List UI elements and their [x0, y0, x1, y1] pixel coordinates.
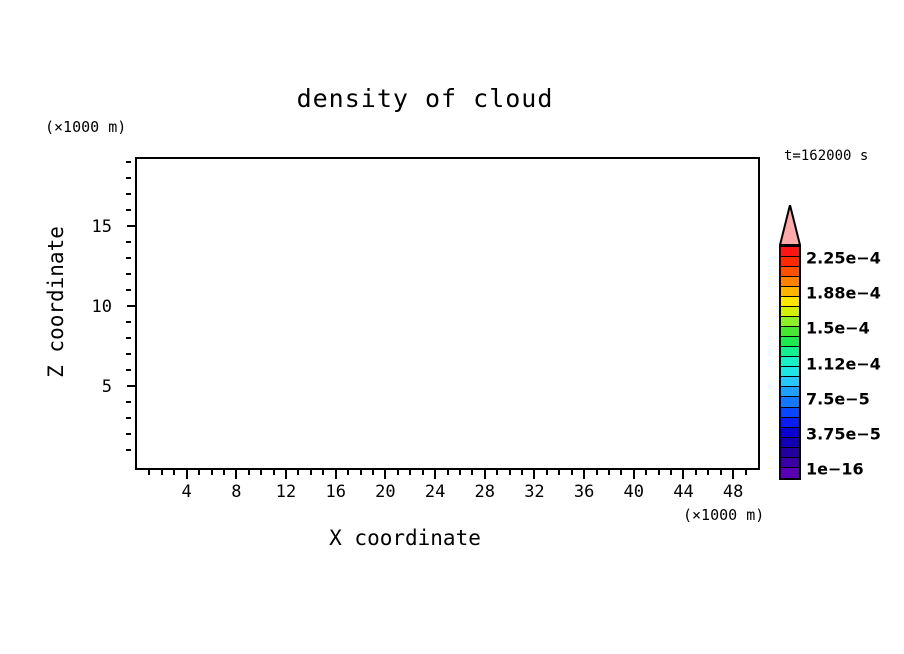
x-tick-minor — [608, 470, 610, 475]
colorbar-band — [781, 428, 799, 438]
colorbar-band — [781, 257, 799, 267]
colorbar-overflow-arrow-icon — [779, 205, 801, 246]
colorbar-band — [781, 367, 799, 377]
x-tick-label: 32 — [524, 482, 544, 502]
x-tick-major — [335, 470, 337, 479]
x-axis-title: X coordinate — [0, 526, 904, 550]
colorbar-band — [781, 307, 799, 317]
colorbar-band — [781, 357, 799, 367]
x-tick-minor — [360, 470, 362, 475]
x-tick-minor — [658, 470, 660, 475]
colorbar-band — [781, 317, 799, 327]
x-tick-minor — [297, 470, 299, 475]
y-tick-major — [127, 385, 136, 387]
x-tick-label: 4 — [182, 482, 192, 502]
x-tick-minor — [397, 470, 399, 475]
colorbar-label: 1.12e−4 — [806, 354, 881, 373]
x-tick-label: 44 — [673, 482, 693, 502]
x-tick-minor — [161, 470, 163, 475]
x-tick-label: 36 — [574, 482, 594, 502]
x-tick-major — [633, 470, 635, 479]
x-tick-minor — [347, 470, 349, 475]
x-tick-minor — [695, 470, 697, 475]
y-tick-minor — [126, 273, 131, 275]
colorbar-band — [781, 267, 799, 277]
x-axis-unit-label: (×1000 m) — [683, 506, 764, 524]
x-tick-major — [583, 470, 585, 479]
colorbar-label: 1.5e−4 — [806, 319, 870, 338]
y-tick-minor — [126, 449, 131, 451]
x-tick-minor — [273, 470, 275, 475]
x-tick-minor — [471, 470, 473, 475]
y-tick-minor — [126, 289, 131, 291]
y-tick-major — [127, 305, 136, 307]
x-tick-minor — [248, 470, 250, 475]
x-tick-label: 24 — [425, 482, 445, 502]
x-tick-major — [682, 470, 684, 479]
x-tick-minor — [211, 470, 213, 475]
x-tick-major — [533, 470, 535, 479]
x-tick-minor — [422, 470, 424, 475]
x-tick-minor — [546, 470, 548, 475]
y-tick-minor — [126, 337, 131, 339]
x-tick-minor — [645, 470, 647, 475]
x-tick-minor — [496, 470, 498, 475]
x-tick-label: 40 — [624, 482, 644, 502]
colorbar-band — [781, 327, 799, 337]
x-tick-label: 28 — [475, 482, 495, 502]
colorbar-band — [781, 438, 799, 448]
x-tick-minor — [596, 470, 598, 475]
x-tick-minor — [620, 470, 622, 475]
y-tick-minor — [126, 433, 131, 435]
y-axis-ticks — [126, 157, 136, 470]
x-tick-minor — [670, 470, 672, 475]
x-tick-minor — [372, 470, 374, 475]
x-tick-minor — [720, 470, 722, 475]
y-tick-minor — [126, 241, 131, 243]
colorbar-band — [781, 277, 799, 287]
colorbar-label: 7.5e−5 — [806, 389, 870, 408]
x-tick-minor — [173, 470, 175, 475]
colorbar-band — [781, 377, 799, 387]
y-tick-major — [127, 225, 136, 227]
x-axis-ticks — [135, 470, 760, 480]
x-tick-major — [384, 470, 386, 479]
chart-title: density of cloud — [0, 84, 904, 113]
x-tick-major — [732, 470, 734, 479]
x-tick-minor — [521, 470, 523, 475]
x-tick-minor — [223, 470, 225, 475]
y-tick-minor — [126, 161, 131, 163]
colorbar-band — [781, 347, 799, 357]
colorbar-label: 1.88e−4 — [806, 284, 881, 303]
colorbar-label: 3.75e−5 — [806, 424, 881, 443]
density-field-canvas — [137, 159, 758, 468]
x-tick-minor — [571, 470, 573, 475]
y-axis-tick-labels: 51015 — [0, 157, 126, 470]
y-tick-minor — [126, 369, 131, 371]
y-tick-minor — [126, 321, 131, 323]
colorbar-band — [781, 458, 799, 468]
x-tick-minor — [558, 470, 560, 475]
colorbar-label: 2.25e−4 — [806, 249, 881, 268]
time-annotation: t=162000 s — [784, 148, 868, 164]
x-tick-minor — [260, 470, 262, 475]
colorbar-band — [781, 247, 799, 257]
x-tick-minor — [509, 470, 511, 475]
y-tick-minor — [126, 209, 131, 211]
colorbar — [779, 245, 801, 480]
y-tick-minor — [126, 177, 131, 179]
y-tick-minor — [126, 417, 131, 419]
y-tick-minor — [126, 193, 131, 195]
y-tick-label: 15 — [92, 217, 112, 237]
x-tick-label: 20 — [375, 482, 395, 502]
x-tick-minor — [745, 470, 747, 475]
colorbar-band — [781, 468, 799, 478]
colorbar-band — [781, 418, 799, 428]
colorbar-band — [781, 448, 799, 458]
y-tick-label: 10 — [92, 297, 112, 317]
contour-plot-area — [135, 157, 760, 470]
x-tick-minor — [310, 470, 312, 475]
x-tick-label: 12 — [276, 482, 296, 502]
colorbar-band — [781, 397, 799, 407]
x-tick-minor — [447, 470, 449, 475]
colorbar-band — [781, 387, 799, 397]
y-tick-label: 5 — [102, 377, 112, 397]
colorbar-label: 1e−16 — [806, 460, 864, 479]
colorbar-tick-labels: 1e−163.75e−57.5e−51.12e−41.5e−41.88e−42.… — [806, 245, 902, 480]
y-axis-unit-label: (×1000 m) — [45, 118, 126, 136]
x-tick-major — [434, 470, 436, 479]
x-tick-label: 16 — [325, 482, 345, 502]
x-tick-minor — [198, 470, 200, 475]
colorbar-band — [781, 408, 799, 418]
x-tick-major — [235, 470, 237, 479]
x-tick-minor — [409, 470, 411, 475]
x-tick-minor — [148, 470, 150, 475]
colorbar-band — [781, 287, 799, 297]
y-tick-minor — [126, 353, 131, 355]
x-tick-minor — [707, 470, 709, 475]
x-tick-major — [186, 470, 188, 479]
colorbar-band — [781, 297, 799, 307]
y-tick-minor — [126, 257, 131, 259]
y-tick-minor — [126, 401, 131, 403]
colorbar-band — [781, 337, 799, 347]
x-tick-major — [285, 470, 287, 479]
x-tick-minor — [459, 470, 461, 475]
x-tick-label: 48 — [723, 482, 743, 502]
x-tick-major — [484, 470, 486, 479]
x-tick-label: 8 — [231, 482, 241, 502]
x-tick-minor — [322, 470, 324, 475]
